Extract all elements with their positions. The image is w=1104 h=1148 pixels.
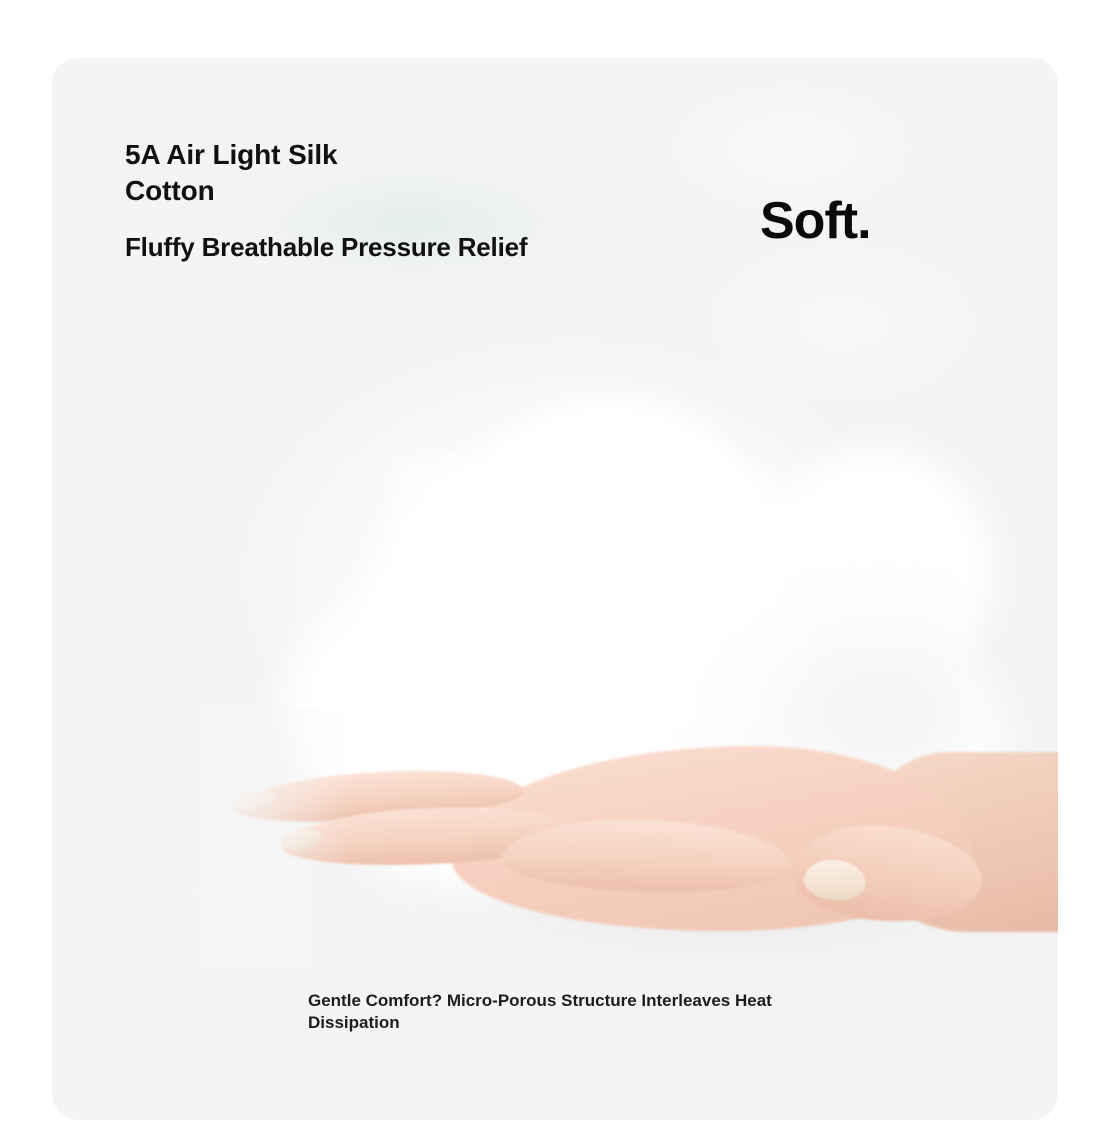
product-feature-card: 5A Air Light Silk Cotton Fluffy Breathab…	[52, 58, 1058, 1120]
promo-page: 5A Air Light Silk Cotton Fluffy Breathab…	[0, 0, 1104, 1148]
feature-caption: Gentle Comfort? Micro-Porous Structure I…	[308, 990, 828, 1034]
headline-block: 5A Air Light Silk Cotton Fluffy Breathab…	[125, 137, 685, 263]
accent-word-soft: Soft.	[760, 195, 871, 247]
product-photo	[52, 238, 1058, 978]
headline-secondary: Fluffy Breathable Pressure Relief	[125, 232, 685, 263]
headline-primary: 5A Air Light Silk Cotton	[125, 137, 385, 210]
open-hand	[172, 708, 1058, 968]
hand-edge-fade	[172, 708, 352, 968]
